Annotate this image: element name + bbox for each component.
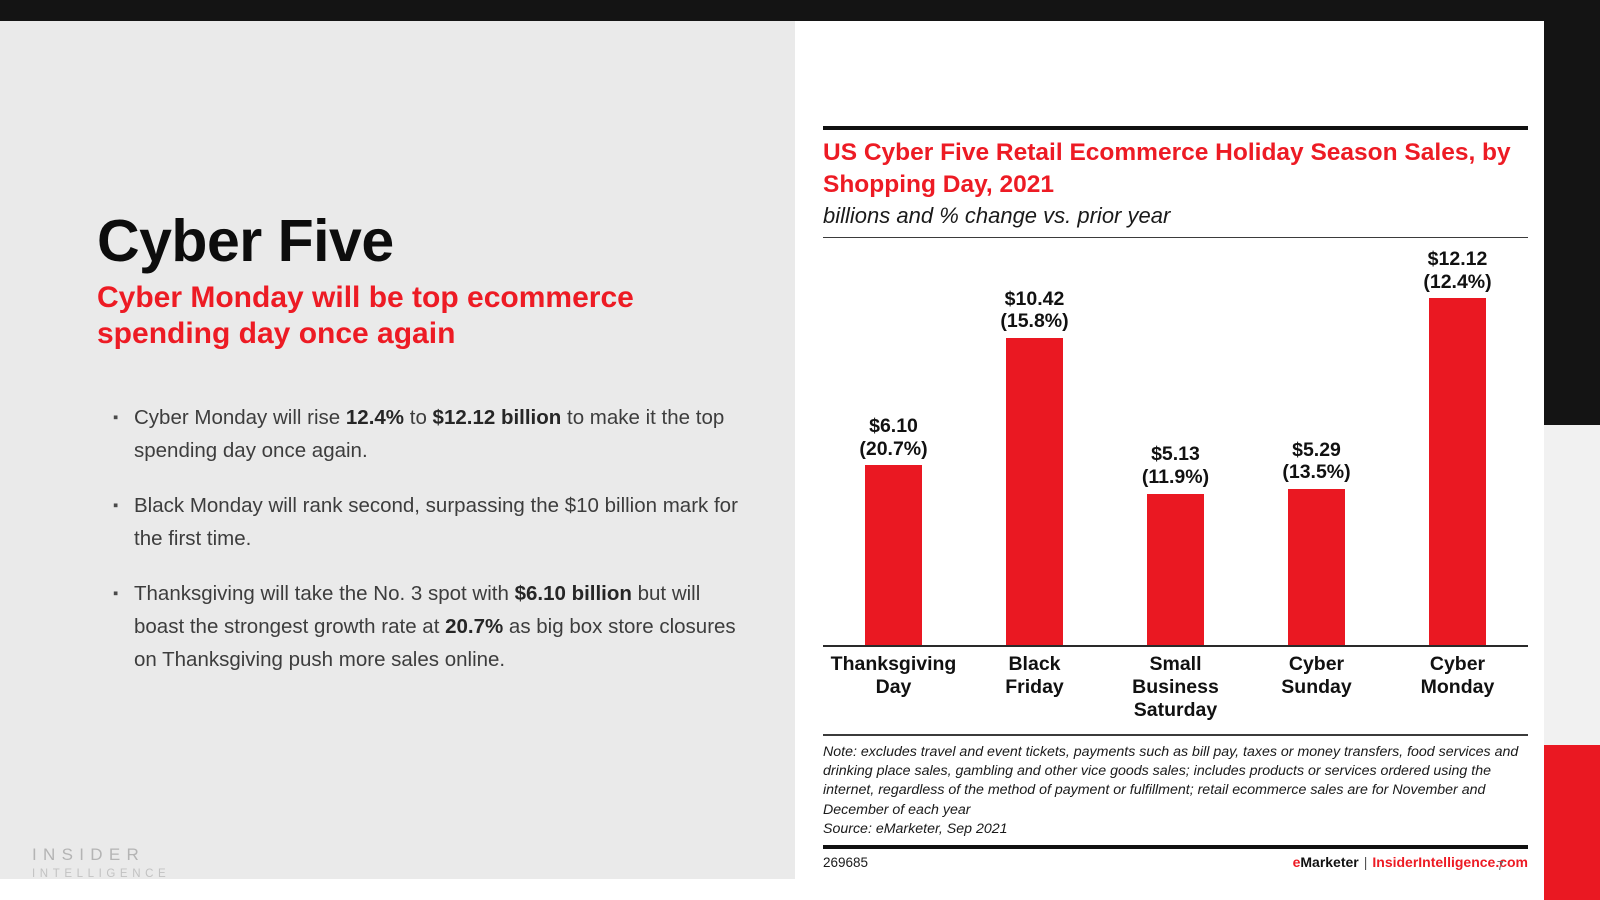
chart-note: Note: excludes travel and event tickets,… <box>823 743 1528 820</box>
x-axis-tick-label: Cyber Monday <box>1387 653 1528 722</box>
list-item-text: Black Monday will rank second, surpassin… <box>134 489 738 555</box>
slide-stage: Cyber Five Cyber Monday will be top ecom… <box>0 0 1600 900</box>
bullet-marker-icon: ▪ <box>113 577 134 676</box>
bar[interactable] <box>865 465 922 644</box>
bullet-list: ▪Cyber Monday will rise 12.4% to $12.12 … <box>113 401 738 698</box>
bar-slot: $5.13 (11.9%) <box>1105 248 1246 645</box>
note-top-rule <box>823 734 1528 736</box>
brand-separator: | <box>1359 854 1373 870</box>
deck-top-bar <box>0 0 1600 21</box>
bar-value-label: $6.10 (20.7%) <box>859 415 927 461</box>
x-axis-tick-label: Small Business Saturday <box>1105 653 1246 722</box>
bar-slot: $10.42 (15.8%) <box>964 248 1105 645</box>
list-item: ▪Thanksgiving will take the No. 3 spot w… <box>113 577 738 676</box>
slide-canvas: Cyber Five Cyber Monday will be top ecom… <box>0 21 1544 879</box>
chart-source: Source: eMarketer, Sep 2021 <box>823 820 1528 839</box>
chart-subtitle: billions and % change vs. prior year <box>823 203 1528 229</box>
bar-value-label: $12.12 (12.4%) <box>1423 248 1491 294</box>
list-item: ▪Black Monday will rank second, surpassi… <box>113 489 738 555</box>
bar[interactable] <box>1288 489 1345 645</box>
adjacent-slide-red-strip[interactable] <box>1544 745 1600 900</box>
bar-value-label: $10.42 (15.8%) <box>1000 288 1068 334</box>
page-subtitle: Cyber Monday will be top ecommerce spend… <box>97 280 697 352</box>
adjacent-slide-dark-strip[interactable] <box>1544 21 1600 425</box>
bar-slot: $6.10 (20.7%) <box>823 248 964 645</box>
left-content-panel: Cyber Five Cyber Monday will be top ecom… <box>0 21 795 879</box>
bar-series: $6.10 (20.7%)$10.42 (15.8%)$5.13 (11.9%)… <box>823 248 1528 645</box>
bullet-marker-icon: ▪ <box>113 401 134 467</box>
bar[interactable] <box>1006 338 1063 644</box>
logo-line-insider: INSIDER <box>32 845 170 865</box>
bar[interactable] <box>1147 494 1204 645</box>
brand-url[interactable]: InsiderIntelligence.com <box>1372 854 1528 870</box>
bar-value-label: $5.29 (13.5%) <box>1282 439 1350 485</box>
bar-value-label: $5.13 (11.9%) <box>1142 443 1209 489</box>
chart-panel: US Cyber Five Retail Ecommerce Holiday S… <box>795 21 1544 879</box>
x-axis-tick-label: Thanksgiving Day <box>823 653 964 722</box>
insider-intelligence-logo: INSIDER INTELLIGENCE <box>32 845 170 880</box>
chart-title: US Cyber Five Retail Ecommerce Holiday S… <box>823 137 1528 201</box>
list-item-text: Cyber Monday will rise 12.4% to $12.12 b… <box>134 401 738 467</box>
bar-slot: $5.29 (13.5%) <box>1246 248 1387 645</box>
bar-chart-plot: $6.10 (20.7%)$10.42 (15.8%)$5.13 (11.9%)… <box>823 247 1528 647</box>
chart-footer: 269685 eMarketer|InsiderIntelligence.com <box>823 854 1528 870</box>
adjacent-slide-gray-strip[interactable] <box>1544 425 1600 745</box>
chart-top-rule <box>823 126 1528 130</box>
page-title: Cyber Five <box>97 211 747 271</box>
chart-footer-rule <box>823 845 1528 849</box>
chart-container: US Cyber Five Retail Ecommerce Holiday S… <box>823 126 1528 870</box>
x-axis-category-labels: Thanksgiving DayBlack FridaySmall Busine… <box>823 653 1528 722</box>
emarketer-brand: eMarketer|InsiderIntelligence.com <box>1293 854 1528 870</box>
bar[interactable] <box>1429 298 1486 644</box>
x-axis-line <box>823 645 1528 648</box>
brand-marketer: Marketer <box>1300 854 1358 870</box>
x-axis-tick-label: Cyber Sunday <box>1246 653 1387 722</box>
page-number: 7 <box>1497 858 1504 873</box>
chart-header-rule <box>823 237 1528 239</box>
logo-line-intelligence: INTELLIGENCE <box>32 868 170 880</box>
list-item-text: Thanksgiving will take the No. 3 spot wi… <box>134 577 738 676</box>
x-axis-tick-label: Black Friday <box>964 653 1105 722</box>
bar-slot: $12.12 (12.4%) <box>1387 248 1528 645</box>
title-block: Cyber Five Cyber Monday will be top ecom… <box>97 211 747 352</box>
bullet-marker-icon: ▪ <box>113 489 134 555</box>
chart-id: 269685 <box>823 855 868 870</box>
list-item: ▪Cyber Monday will rise 12.4% to $12.12 … <box>113 401 738 467</box>
